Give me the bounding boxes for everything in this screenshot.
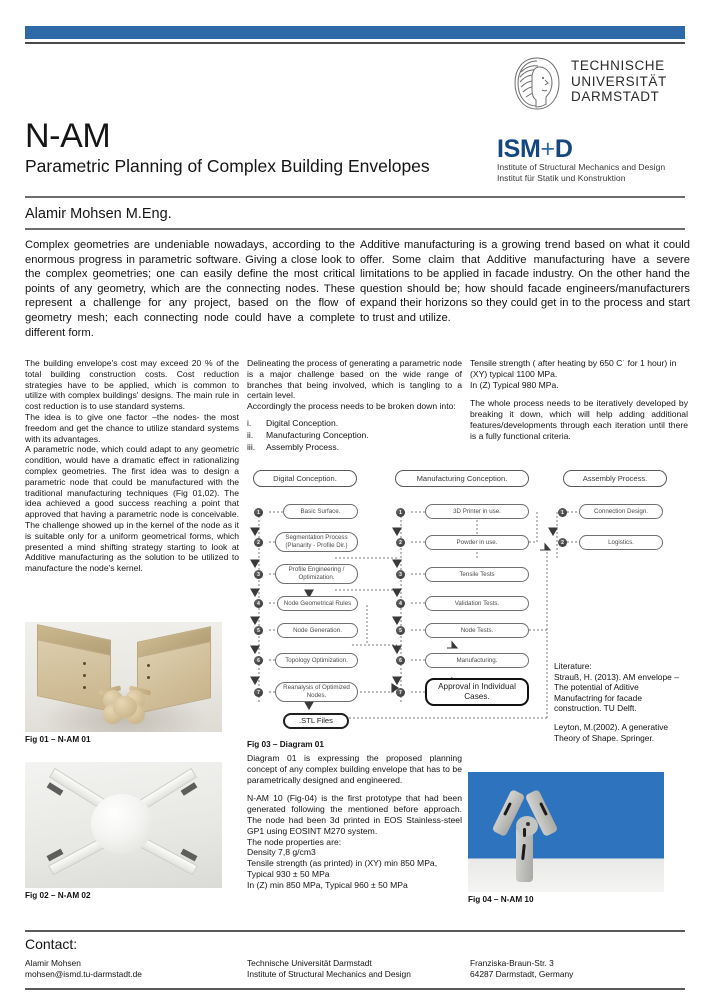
body-column-right: Tensile strength ( after heating by 650 … [470,358,688,442]
header-divider-top [25,42,685,44]
list-item-label: Digital Conception. [266,417,338,429]
figure-fig02: Fig 02 – N-AM 02 [25,762,222,900]
diagram-node-logistics[interactable]: Logistics. [579,535,663,550]
header-divider-mid [25,196,685,198]
literature-entry-1: Strauß, H. (2013). AM envelope – The pot… [554,672,688,714]
list-item-label: Manufacturing Conception. [266,429,369,441]
ismd-logo-right: D [555,135,573,163]
literature-block: Literature: Strauß, H. (2013). AM envelo… [554,661,688,743]
figure-caption-fig04: Fig 04 – N-AM 10 [468,895,664,904]
diagram-node-node-geometrical-rules[interactable]: Node Geometrical Rules [277,596,358,611]
diagram-step-bullet-a1: 1 [558,508,567,517]
ismd-logo-plus: + [541,135,555,163]
poster-canvas: TECHNISCHE UNIVERSITÄT DARMSTADT N-AM Pa… [0,0,710,1003]
intro-column-left: Complex geometries are undeniable nowada… [25,238,355,340]
diagram-step-bullet-m3: 3 [396,570,405,579]
diagram-step-bullet-7: 7 [254,688,263,697]
contact-university: Technische Universität Darmstadt [247,958,411,969]
diagram-desc-paragraph-6: In (Z) min 850 MPa, Typical 960 ± 50 MPa [247,880,462,891]
left-paragraph-2: The idea is to give one factor –the node… [25,412,239,444]
right-paragraph-3: The whole process needs to be iterativel… [470,398,688,441]
diagram-step-bullet-3: 3 [254,570,263,579]
contact-divider-top [25,930,685,932]
diagram-node-tensile-tests[interactable]: Tensile Tests [425,567,529,582]
body-column-middle: Delineating the process of generating a … [247,358,462,453]
ismd-logo-block: ISM+D Institute of Structural Mechanics … [497,136,665,184]
diagram-node-connection-design[interactable]: Connection Design. [579,504,663,519]
diagram-desc-paragraph-2: N-AM 10 (Fig-04) is the first prototype … [247,793,462,836]
ismd-name-en: Institute of Structural Mechanics and De… [497,162,665,173]
figure-caption-fig02: Fig 02 – N-AM 02 [25,891,222,900]
list-item-numeral: iii. [247,441,259,453]
diagram-node-profile-engineering[interactable]: Profile Engineering / Optimization. [275,564,358,584]
tu-logo-wordmark: TECHNISCHE UNIVERSITÄT DARMSTADT [571,56,667,105]
process-steps-list: i.Digital Conception. ii.Manufacturing C… [247,417,462,453]
author-divider [25,228,685,230]
contact-column-address: Franziska-Braun-Str. 3 64287 Darmstadt, … [470,958,573,980]
diagram-step-bullet-m6: 6 [396,656,405,665]
contact-column-university: Technische Universität Darmstadt Institu… [247,958,411,980]
diagram-description-block: Diagram 01 is expressing the proposed pl… [247,753,462,891]
intro-paragraph-left: Complex geometries are undeniable nowada… [25,238,355,340]
list-item-numeral: ii. [247,429,259,441]
contact-person-name: Alamir Mohsen [25,958,142,969]
diagram-step-bullet-6: 6 [254,656,263,665]
contact-street: Franziska-Braun-Str. 3 [470,958,573,969]
athena-head-icon [512,56,562,112]
ismd-logo-left: ISM [497,135,541,163]
diagram-node-basic-surface[interactable]: Basic Surface. [283,504,358,519]
literature-entry-2: Leyton, M.(2002). A generative Theory of… [554,722,688,743]
figure-caption-fig01: Fig 01 – N-AM 01 [25,735,222,744]
figure-fig04-image [468,772,664,892]
middle-paragraph-1: Delineating the process of generating a … [247,358,462,401]
diagram-step-bullet-m5: 5 [396,626,405,635]
diagram-step-bullet-m1: 1 [396,508,405,517]
diagram-step-bullet-1: 1 [254,508,263,517]
figure-fig04: Fig 04 – N-AM 10 [468,772,664,904]
diagram-node-3d-printer-in-use[interactable]: 3D Printer in use. [425,504,529,519]
diagram-step-bullet-5: 5 [254,626,263,635]
ismd-name-de: Institut für Statik und Konstruktion [497,173,665,184]
author-name: Alamir Mohsen M.Eng. [25,206,172,222]
diagram-node-topology-optimization[interactable]: Topology Optimization. [275,653,358,668]
intro-column-right: Additive manufacturing is a growing tren… [360,238,690,326]
diagram-desc-paragraph-5: Tensile strength (as printed) in (XY) mi… [247,858,462,880]
contact-divider-bottom [25,988,685,990]
tu-logo-line-3: DARMSTADT [571,89,667,105]
diagram-node-segmentation-process[interactable]: Segmentation Process (Planarity - Profil… [275,532,358,552]
tu-logo-line-2: UNIVERSITÄT [571,74,667,90]
tu-darmstadt-logo: TECHNISCHE UNIVERSITÄT DARMSTADT [512,56,667,112]
diagram-desc-paragraph-1: Diagram 01 is expressing the proposed pl… [247,753,462,785]
right-paragraph-1: Tensile strength ( after heating by 650 … [470,358,688,380]
diagram-node-node-tests[interactable]: Node Tests. [425,623,529,638]
brand-blue-bar [25,26,685,39]
right-paragraph-2: In (Z) Typical 980 MPa. [470,380,688,391]
figure-fig02-image [25,762,222,888]
diagram-desc-paragraph-3: The node properties are: [247,837,462,848]
diagram-header-digital-conception[interactable]: Digital Conception. [253,470,357,487]
list-item: ii.Manufacturing Conception. [247,429,462,441]
contact-institute: Institute of Structural Mechanics and De… [247,969,411,980]
intro-paragraph-right: Additive manufacturing is a growing tren… [360,238,690,326]
diagram-step-bullet-4: 4 [254,599,263,608]
contact-heading: Contact: [25,936,77,952]
figure-caption-fig03: Fig 03 – Diagram 01 [247,740,324,749]
diagram-header-assembly-process[interactable]: Assembly Process. [563,470,667,487]
figure-fig01-image [25,622,222,732]
tu-logo-line-1: TECHNISCHE [571,58,667,74]
diagram-header-manufacturing-conception[interactable]: Manufacturing Conception. [395,470,529,487]
contact-city: 64287 Darmstadt, Germany [470,969,573,980]
list-item-numeral: i. [247,417,259,429]
diagram-node-node-generation[interactable]: Node Generation. [277,623,358,638]
diagram-node-validation-tests[interactable]: Validation Tests. [425,596,529,611]
left-paragraph-3: A parametric node, which could adapt to … [25,444,239,574]
poster-subtitle: Parametric Planning of Complex Building … [25,156,430,176]
figure-fig01: Fig 01 – N-AM 01 [25,622,222,744]
diagram-step-bullet-m2: 2 [396,538,405,547]
diagram-node-reanalysis-optimized-nodes[interactable]: Reanalysis of Optimized Nodes. [275,682,358,702]
list-item: i.Digital Conception. [247,417,462,429]
contact-email[interactable]: mohsen@ismd.tu-darmstadt.de [25,969,142,980]
body-column-left: The building envelope's cost may exceed … [25,358,239,574]
diagram-step-bullet-a2: 2 [558,538,567,547]
middle-paragraph-2: Accordingly the process needs to be brok… [247,401,462,412]
diagram-step-bullet-2: 2 [254,538,263,547]
ismd-logo: ISM+D [497,136,665,162]
literature-heading: Literature: [554,661,688,672]
list-item-label: Assembly Process. [266,441,339,453]
diagram-node-powder-in-use[interactable]: Powder in use. [425,535,529,550]
poster-title: N-AM [25,118,110,154]
diagram-node-stl-files[interactable]: .STL Files [283,713,349,729]
diagram-desc-paragraph-4: Density 7,8 g/cm3 [247,847,462,858]
list-item: iii.Assembly Process. [247,441,462,453]
diagram-step-bullet-m7: 7 [396,688,405,697]
diagram-node-manufacturing[interactable]: Manufacturing. [425,653,529,668]
contact-column-person: Alamir Mohsen mohsen@ismd.tu-darmstadt.d… [25,958,142,980]
diagram-node-approval-individual-cases[interactable]: Approval in Individual Cases. [425,678,529,706]
diagram-step-bullet-m4: 4 [396,599,405,608]
left-paragraph-1: The building envelope's cost may exceed … [25,358,239,412]
